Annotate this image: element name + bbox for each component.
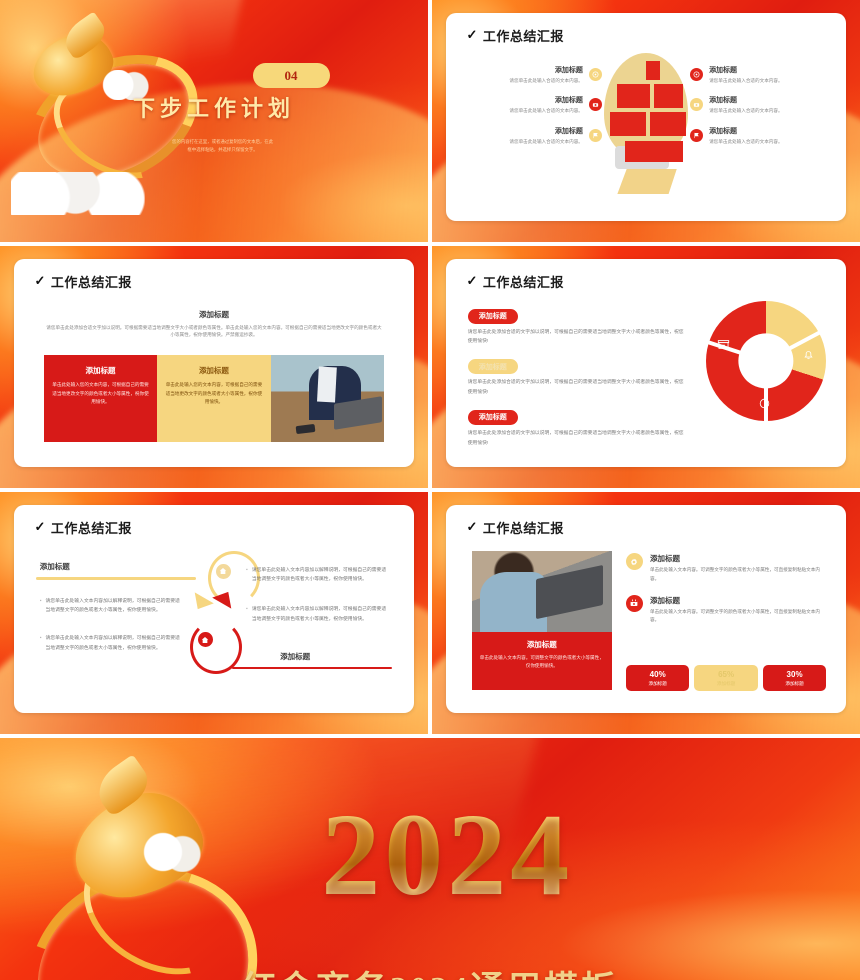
slide-title-text: 工作总结汇报 <box>483 26 564 45</box>
feature-heading: 添加标题 <box>509 126 583 136</box>
woman-laptop-photo <box>472 551 612 632</box>
pill-list: 添加标题 请您单击此处添加合适的文字加以说明，可根据自己的需要适当地调整文字大小… <box>468 305 684 457</box>
feature-item[interactable]: 添加标题 请您单击此处输入合适的文本内容。 <box>690 95 834 114</box>
pill-item[interactable]: 添加标题 请您单击此处添加合适的文字加以说明，可根据自己的需要适当地调整文字大小… <box>468 356 684 398</box>
cover-tagline: 红金商务2024通用模板 <box>242 961 618 980</box>
feature-item[interactable]: 添加标题 请您单击此处输入合适的文本内容。 <box>690 65 834 84</box>
caption-body: 单击此处输入文本内容。可调整文字的颜色或者大小等属性，仅你使用愉快。 <box>480 654 604 671</box>
target-icon[interactable] <box>690 68 703 81</box>
bottom-rule <box>232 667 392 670</box>
feature-heading: 添加标题 <box>650 595 826 606</box>
section-number: 04 <box>285 68 298 84</box>
check-icon: ✓ <box>35 273 46 289</box>
slide-title-text: 工作总结汇报 <box>483 272 564 291</box>
feature-body: 请您单击此处输入合适的文本内容。 <box>709 107 783 114</box>
slide-title-text: 工作总结汇报 <box>51 272 132 291</box>
slide-title-text: 工作总结汇报 <box>51 518 132 537</box>
feature-item[interactable]: 添加标题 请您单击此处输入合适的文本内容。 <box>690 126 834 145</box>
feature-item[interactable]: 添加标题 请您单击此处输入合适的文本内容。 <box>458 126 602 145</box>
pill-body: 请您单击此处添加合适的文字加以说明，可根据自己的需要适当地调整文字大小或者颜色等… <box>468 328 684 347</box>
section-subtitle-line-1: 您的内容打在这里，或者通过复制您的文本后，在此 <box>116 138 330 146</box>
feature-body: 请您单击此处输入合适的文本内容。 <box>509 77 583 84</box>
gear-icon[interactable] <box>626 553 643 570</box>
camera-icon[interactable] <box>690 98 703 111</box>
stat-badge[interactable]: 65% 添加标题 <box>694 665 757 691</box>
bullet-text: 请您单击此处输入文本内容加以解释说明，可根据自己的需要适当地调整文字的颜色或者大… <box>46 634 184 653</box>
lead-heading: 添加标题 <box>14 309 415 320</box>
slide-donut-chart[interactable]: ✓ 工作总结汇报 添加标题 请您单击此处添加合适的文字加以说明，可根据自己的需要… <box>432 246 860 488</box>
clock-icon <box>757 395 773 411</box>
slide-card: ✓ 工作总结汇报 添加标题 请您单击此处添加合适文字加以说明。可根据需要适当地调… <box>14 259 415 467</box>
pill-item[interactable]: 添加标题 请您单击此处添加合适的文字加以说明，可根据自己的需要适当地调整文字大小… <box>468 305 684 347</box>
slide-section-title[interactable]: 04 下步工作计划 您的内容打在这里，或者通过复制您的文本后，在此 框中选择粘贴… <box>0 0 428 242</box>
slide-card: ✓ 工作总结汇报 添加标题 添加标题 ▪ 请您单击此处输入文本内容加以解释说明，… <box>14 505 415 713</box>
feature-heading: 添加标题 <box>709 126 783 136</box>
stat-value: 40% <box>626 670 689 679</box>
home-icon <box>216 564 231 579</box>
donut-chart[interactable] <box>706 301 826 421</box>
feature-body: 单击此处输入文本内容。可调整文字的颜色或者大小等属性，可直接复制粘贴文本内容。 <box>650 566 826 583</box>
top-heading: 添加标题 <box>40 561 70 572</box>
slide-title: ✓ 工作总结汇报 <box>467 272 564 291</box>
content-box-red[interactable]: 添加标题 单击此处输入您的文本内容，可根据自己的需要适当地更改文字的颜色或者大小… <box>44 355 157 442</box>
feature-heading: 添加标题 <box>509 65 583 75</box>
section-title: 下步工作计划 <box>81 91 346 123</box>
archive-icon <box>716 337 732 353</box>
gold-arrow-head <box>188 592 214 614</box>
feature-item[interactable]: 添加标题 单击此处输入文本内容。可调整文字的颜色或者大小等属性，可直接复制粘贴文… <box>626 553 826 583</box>
slide-two-boxes[interactable]: ✓ 工作总结汇报 添加标题 请您单击此处添加合适文字加以说明。可根据需要适当地调… <box>0 246 428 488</box>
feature-list: 添加标题 单击此处输入文本内容。可调整文字的颜色或者大小等属性，可直接复制粘贴文… <box>626 553 826 636</box>
presentation-thumbnail-sheet: 04 下步工作计划 您的内容打在这里，或者通过复制您的文本后，在此 框中选择粘贴… <box>0 0 860 980</box>
box-heading: 添加标题 <box>51 365 150 376</box>
lead-body: 请您单击此处添加合适文字加以说明。可根据需要适当地调整文字大小或者颜色等属性。单… <box>46 324 382 338</box>
bullet-marker: ▪ <box>246 605 248 624</box>
photo-caption-card[interactable]: 添加标题 单击此处输入文本内容。可调整文字的颜色或者大小等属性，仅你使用愉快。 <box>472 551 612 690</box>
pill-body: 请您单击此处添加合适的文字加以说明，可根据自己的需要适当地调整文字大小或者颜色等… <box>468 378 684 397</box>
stat-badges: 40% 添加标题 65% 添加标题 30% 添加标题 <box>626 665 826 691</box>
stat-value: 30% <box>763 670 826 679</box>
bullet-text: 请您单击此处输入文本内容加以解释说明，可根据自己的需要适当地调整文字的颜色或者大… <box>252 605 390 624</box>
stat-badge[interactable]: 40% 添加标题 <box>626 665 689 691</box>
section-subtitle-line-2: 框中选择粘贴，并选择只保留文字。 <box>116 146 330 154</box>
feature-item[interactable]: 添加标题 单击此处输入文本内容。可调整文字的颜色或者大小等属性，可直接复制粘贴文… <box>626 595 826 625</box>
feature-item[interactable]: 添加标题 请您单击此处输入合适的文本内容。 <box>458 65 602 84</box>
section-subtitle: 您的内容打在这里，或者通过复制您的文本后，在此 框中选择粘贴，并选择只保留文字。 <box>116 138 330 155</box>
pill-label: 添加标题 <box>468 309 518 324</box>
bullet-item: ▪ 请您单击此处输入文本内容加以解释说明，可根据自己的需要适当地调整文字的颜色或… <box>40 597 184 616</box>
year-title: 2024 <box>321 796 573 914</box>
slide-title: ✓ 工作总结汇报 <box>35 272 132 291</box>
calendar-icon[interactable] <box>626 595 643 612</box>
slide-arrow-loops[interactable]: ✓ 工作总结汇报 添加标题 添加标题 ▪ 请您单击此处输入文本内容加以解释说明，… <box>0 492 428 734</box>
check-icon: ✓ <box>467 519 478 535</box>
top-rule <box>36 577 196 580</box>
businessman-laptop-photo <box>271 355 385 442</box>
slide-cover-2024[interactable]: 2024 红金商务2024通用模板 <box>0 738 860 980</box>
slide-title: ✓ 工作总结汇报 <box>35 518 132 537</box>
feature-body: 请您单击此处输入合适的文本内容。 <box>709 138 783 145</box>
red-loop-arrow <box>190 620 242 674</box>
feature-heading: 添加标题 <box>709 65 783 75</box>
caption-heading: 添加标题 <box>480 639 604 650</box>
bullet-item: ▪ 请您单击此处输入文本内容加以解释说明，可根据自己的需要适当地调整文字的颜色或… <box>40 634 184 653</box>
stat-badge[interactable]: 30% 添加标题 <box>763 665 826 691</box>
stat-label: 添加标题 <box>626 681 689 687</box>
pill-item[interactable]: 添加标题 请您单击此处添加合适的文字加以说明，可根据自己的需要适当地调整文字大小… <box>468 406 684 448</box>
bullet-marker: ▪ <box>246 566 248 585</box>
content-box-gold[interactable]: 添加标题 单击此处输入您的文本内容，可根据自己的需要适当地更改文字的颜色或者大小… <box>157 355 270 442</box>
pill-label: 添加标题 <box>468 410 518 425</box>
bell-icon <box>801 347 817 363</box>
slide-photo-features[interactable]: ✓ 工作总结汇报 添加标题 单击此处输入文本内容。可调整文字的颜色或者大小等属性… <box>432 492 860 734</box>
bottom-heading: 添加标题 <box>280 651 310 662</box>
box-heading: 添加标题 <box>164 365 263 376</box>
bullet-text: 请您单击此处输入文本内容加以解释说明，可根据自己的需要适当地调整文字的颜色或者大… <box>46 597 184 616</box>
slide-card: ✓ 工作总结汇报 添加标题 单击此处输入文本内容。可调整文字的颜色或者大小等属性… <box>446 505 847 713</box>
slide-title: ✓ 工作总结汇报 <box>467 26 564 45</box>
content-boxes: 添加标题 单击此处输入您的文本内容，可根据自己的需要适当地更改文字的颜色或者大小… <box>44 355 385 442</box>
right-feature-column: 添加标题 请您单击此处输入合适的文本内容。 添加标题 请您单击此处输入合适的文本… <box>690 65 834 144</box>
stat-value: 65% <box>694 670 757 679</box>
feature-body: 请您单击此处输入合适的文本内容。 <box>709 77 783 84</box>
feature-body: 请您单击此处输入合适的文本内容。 <box>509 107 583 114</box>
slide-title: ✓ 工作总结汇报 <box>467 518 564 537</box>
feature-item[interactable]: 添加标题 请您单击此处输入合适的文本内容。 <box>458 95 602 114</box>
photo-caption: 添加标题 单击此处输入文本内容。可调整文字的颜色或者大小等属性，仅你使用愉快。 <box>472 632 612 691</box>
check-icon: ✓ <box>35 519 46 535</box>
bullet-marker: ▪ <box>40 634 42 653</box>
bullet-marker: ▪ <box>40 597 42 616</box>
pill-label: 添加标题 <box>468 359 518 374</box>
box-body: 单击此处输入您的文本内容，可根据自己的需要适当地更改文字的颜色或者大小等属性，祝… <box>51 381 150 406</box>
pill-body: 请您单击此处添加合适的文字加以说明，可根据自己的需要适当地调整文字大小或者颜色等… <box>468 429 684 448</box>
feature-heading: 添加标题 <box>650 553 826 564</box>
stat-label: 添加标题 <box>763 681 826 687</box>
check-icon: ✓ <box>467 27 478 43</box>
feature-heading: 添加标题 <box>709 95 783 105</box>
head-puzzle-graphic <box>600 53 696 195</box>
feature-body: 请您单击此处输入合适的文本内容。 <box>509 138 583 145</box>
bullet-item: ▪ 请您单击此处输入文本内容加以解释说明，可根据自己的需要适当地调整文字的颜色或… <box>246 605 390 624</box>
left-feature-column: 添加标题 请您单击此处输入合适的文本内容。 添加标题 请您单击此处输入合适的文本… <box>458 65 602 144</box>
slide-card: ✓ 工作总结汇报 添加标题 请您单击此处添加合适的文字加以说明，可根据自己的需要… <box>446 259 847 467</box>
flag-icon[interactable] <box>690 129 703 142</box>
box-body: 单击此处输入您的文本内容，可根据自己的需要适当地更改文字的颜色或者大小等属性，祝… <box>164 381 263 406</box>
section-number-badge: 04 <box>253 63 330 88</box>
slide-head-puzzle[interactable]: ✓ 工作总结汇报 添加标题 请您单击此处输入合适的文本内容。 添加标题 <box>432 0 860 242</box>
slide-card: ✓ 工作总结汇报 添加标题 请您单击此处输入合适的文本内容。 添加标题 <box>446 13 847 221</box>
check-icon: ✓ <box>467 273 478 289</box>
bullet-item: ▪ 请您单击此处输入文本内容加以解释说明，可根据自己的需要适当地调整文字的颜色或… <box>246 566 390 585</box>
feature-heading: 添加标题 <box>509 95 583 105</box>
bullet-text: 请您单击此处输入文本内容加以解释说明，可根据自己的需要适当地调整文字的颜色或者大… <box>252 566 390 585</box>
feature-body: 单击此处输入文本内容。可调整文字的颜色或者大小等属性，可直接复制粘贴文本内容。 <box>650 608 826 625</box>
stat-label: 添加标题 <box>694 681 757 687</box>
slide-title-text: 工作总结汇报 <box>483 518 564 537</box>
